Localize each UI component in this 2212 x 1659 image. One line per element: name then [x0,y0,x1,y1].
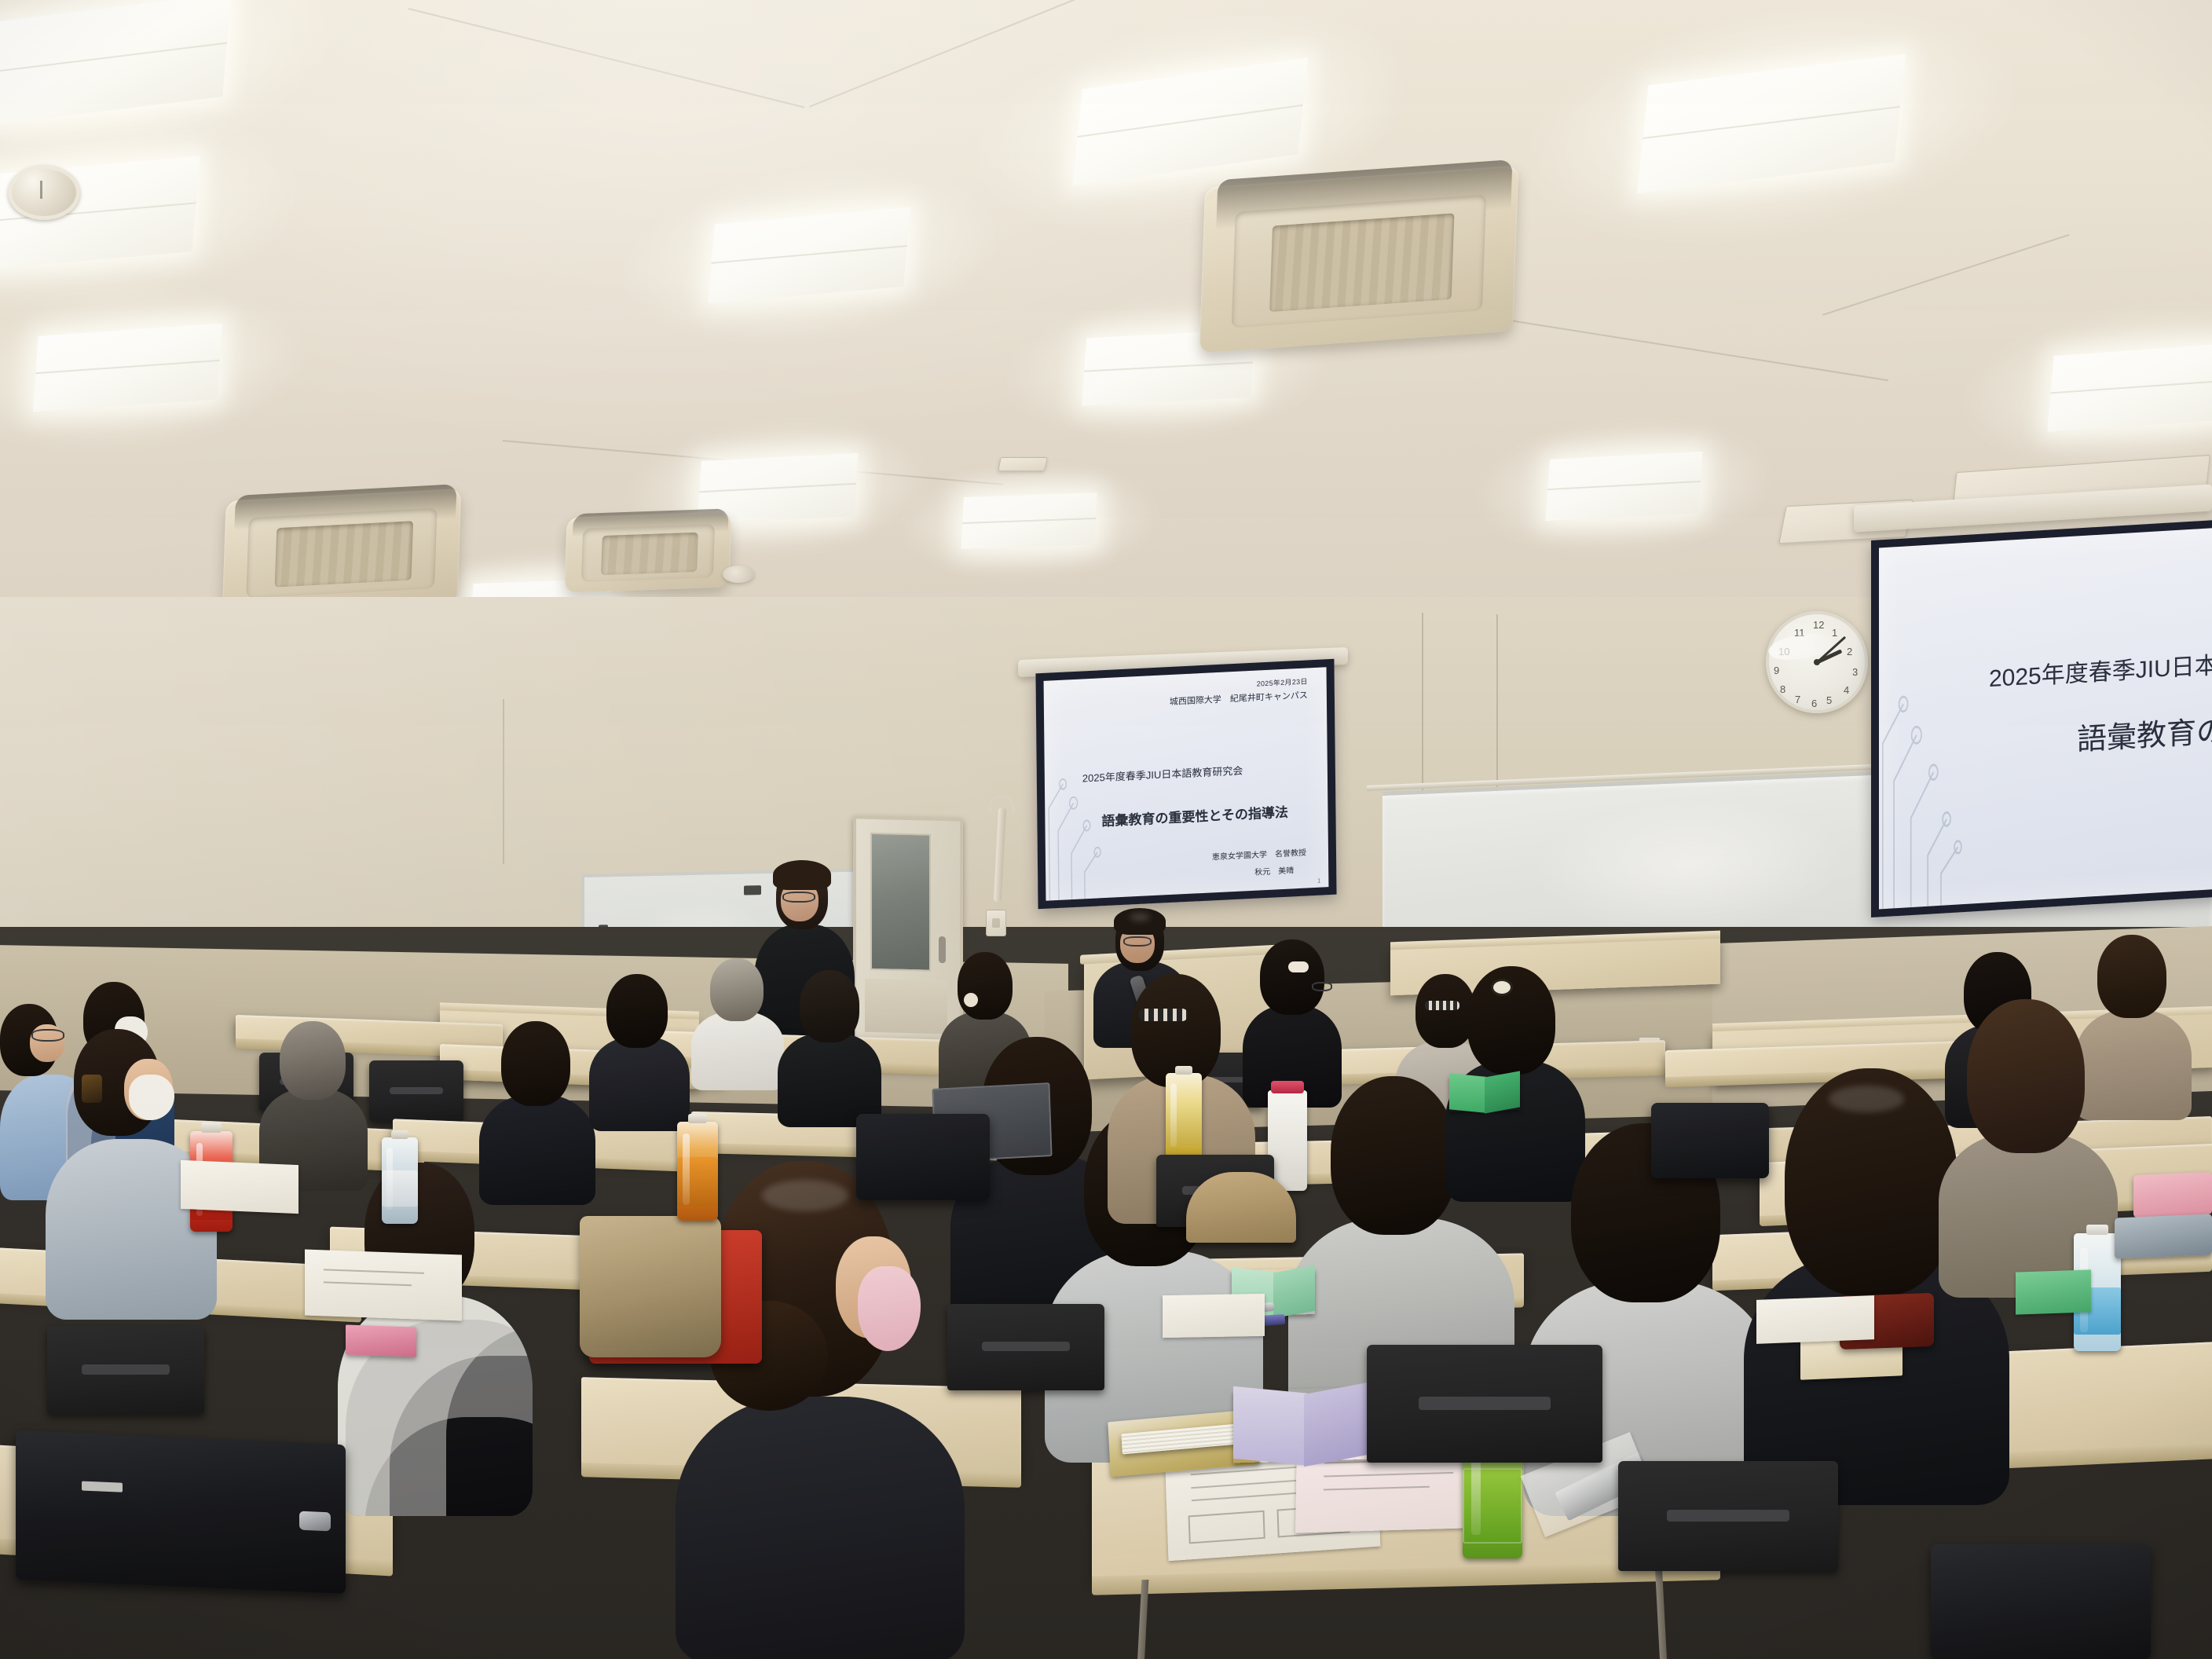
ceiling-air-vent [998,457,1048,471]
hair-clip [1139,1009,1188,1021]
face-mask [858,1266,921,1351]
ceiling-speaker-icon [723,566,754,583]
ceiling-light-panel [33,323,222,412]
name-tent-card-green-2 [1449,1074,1520,1111]
standing-attendee-hair [773,860,831,890]
black-laptop-bag [16,1430,346,1594]
black-bag-mid [856,1114,990,1200]
standing-attendee-glasses-icon [782,892,815,903]
pink-folder [346,1324,416,1357]
ceiling-light-panel [1545,452,1702,522]
handout-left [305,1250,462,1321]
chair[interactable] [1367,1345,1602,1463]
light-switch-plate[interactable] [986,910,1006,936]
attendee-torso [676,1397,965,1659]
ceiling-light-panel [961,493,1097,549]
slide-venue: 城西国際大学 紀尾井町キャンパス [1170,688,1308,708]
attendee-back-right-1 [1243,939,1343,1089]
yellow-tea-bottle [1166,1073,1202,1161]
face-mask [129,1075,174,1120]
slide-page-number: 1 [1317,877,1321,884]
water-bottle-left [382,1137,418,1224]
attendee-mid-center [479,1021,597,1186]
smoke-detector-icon [8,165,80,220]
chair-wood-back[interactable] [1186,1172,1296,1243]
hair-clip [82,1075,102,1103]
pink-notebook [2133,1172,2212,1218]
black-bag-right [1651,1103,1769,1178]
slide-affiliation: 恵泉女学園大学 名誉教授 [1212,846,1306,862]
attendee-right-brown-hair [1939,999,2119,1258]
bag-label [82,1481,123,1492]
black-bag-bottom-right [1931,1544,2151,1659]
ceiling-ac-unit [222,489,462,615]
hair-clip [1288,961,1309,972]
lecture-hall-photo: 12 1 2 3 4 5 6 7 8 9 10 11 2025年2月23日 城西… [0,0,2212,1659]
chair[interactable] [1618,1461,1838,1571]
right-slide-title: 語彙教育の重 [2077,705,2212,759]
ceiling-light-panel [1637,53,1906,193]
ceiling-light-panel [1072,57,1308,185]
ceiling-ac-unit [564,511,731,593]
wall-hook-icon [988,795,1015,812]
thermos-cap [1271,1081,1304,1093]
beige-coat [580,1216,721,1357]
handout-left-2 [181,1160,298,1214]
right-projection-screen: 2025年度春季JIU日本語教 語彙教育の重 [1871,515,2212,917]
chair[interactable] [947,1304,1104,1390]
presenter-glasses-icon [1123,936,1152,947]
center-projection-screen: 2025年2月23日 城西国際大学 紀尾井町キャンパス 2025年度春季JIU日… [1035,659,1336,909]
slide-decoration-icon [1044,701,1176,900]
hair-clip [964,993,978,1007]
slide-decoration-icon [1879,580,2067,909]
attendee-back-left-2 [778,970,884,1108]
ceiling-light-panel [2047,342,2212,432]
orange-tea-bottle [677,1122,718,1221]
handout-right [1756,1295,1874,1344]
attendee-mid-gray-back [259,1021,369,1178]
ceiling-ac-unit [1199,166,1518,353]
hair-clip [1491,979,1513,996]
slide-presenter: 秋元 美晴 [1254,863,1294,877]
attendee-mid-center-2 [589,974,691,1115]
handout-center-right [1163,1294,1265,1338]
ceiling-light-panel [708,207,910,304]
bag-zipper [299,1511,331,1532]
chair[interactable] [369,1060,463,1122]
wall-clock: 12 1 2 3 4 5 6 7 8 9 10 11 [1766,611,1868,713]
green-paper-right [2016,1269,2091,1314]
attendee-back-left-1 [691,957,786,1075]
name-tent-card-purple [1233,1386,1375,1463]
chair[interactable] [47,1326,204,1414]
tablet-device[interactable] [2115,1214,2212,1258]
glasses-icon [1312,982,1332,991]
slide-date: 2025年2月23日 [1257,676,1308,688]
